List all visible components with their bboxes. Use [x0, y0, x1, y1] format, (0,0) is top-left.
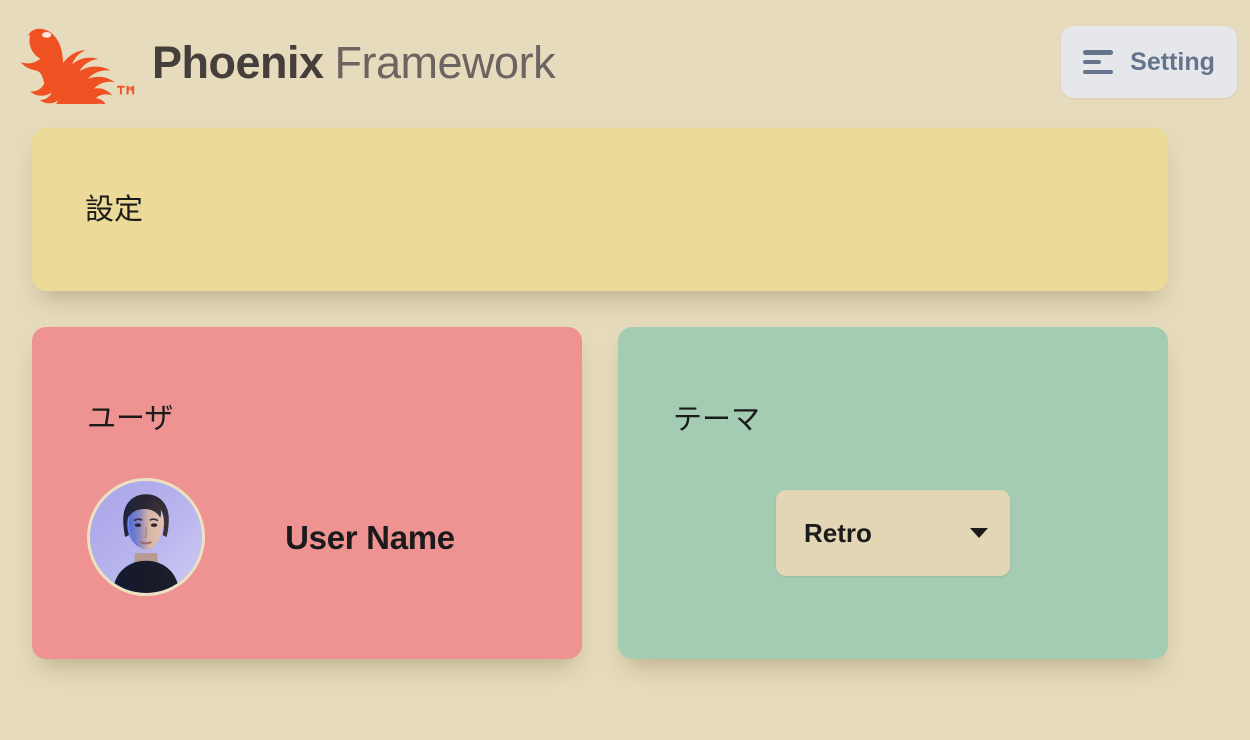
theme-select-value: Retro [804, 520, 970, 546]
avatar[interactable] [87, 478, 205, 596]
avatar-portrait [90, 481, 202, 593]
brand: Phoenix Framework [20, 20, 555, 104]
setting-button[interactable]: Setting [1061, 26, 1237, 98]
brand-name-strong: Phoenix [152, 40, 324, 85]
menu-line-1 [1083, 50, 1113, 55]
menu-line-2 [1083, 60, 1101, 65]
chevron-down-icon [970, 528, 988, 538]
brand-name-light: Framework [335, 40, 556, 85]
user-row: User Name [87, 478, 527, 596]
user-card-title: ユーザ [87, 405, 173, 434]
setting-button-label: Setting [1130, 50, 1215, 75]
theme-select[interactable]: Retro [776, 490, 1010, 576]
phoenix-bird-logo [20, 20, 138, 104]
settings-card-title: 設定 [85, 196, 143, 225]
hamburger-menu-icon [1083, 50, 1113, 74]
menu-line-3 [1083, 70, 1113, 75]
settings-card: 設定 [32, 128, 1168, 291]
user-card: ユーザ [32, 327, 582, 659]
user-name: User Name [213, 521, 527, 554]
theme-card-title: テーマ [673, 406, 760, 435]
brand-title: Phoenix Framework [152, 40, 555, 85]
theme-card: テーマ Retro [618, 327, 1168, 659]
